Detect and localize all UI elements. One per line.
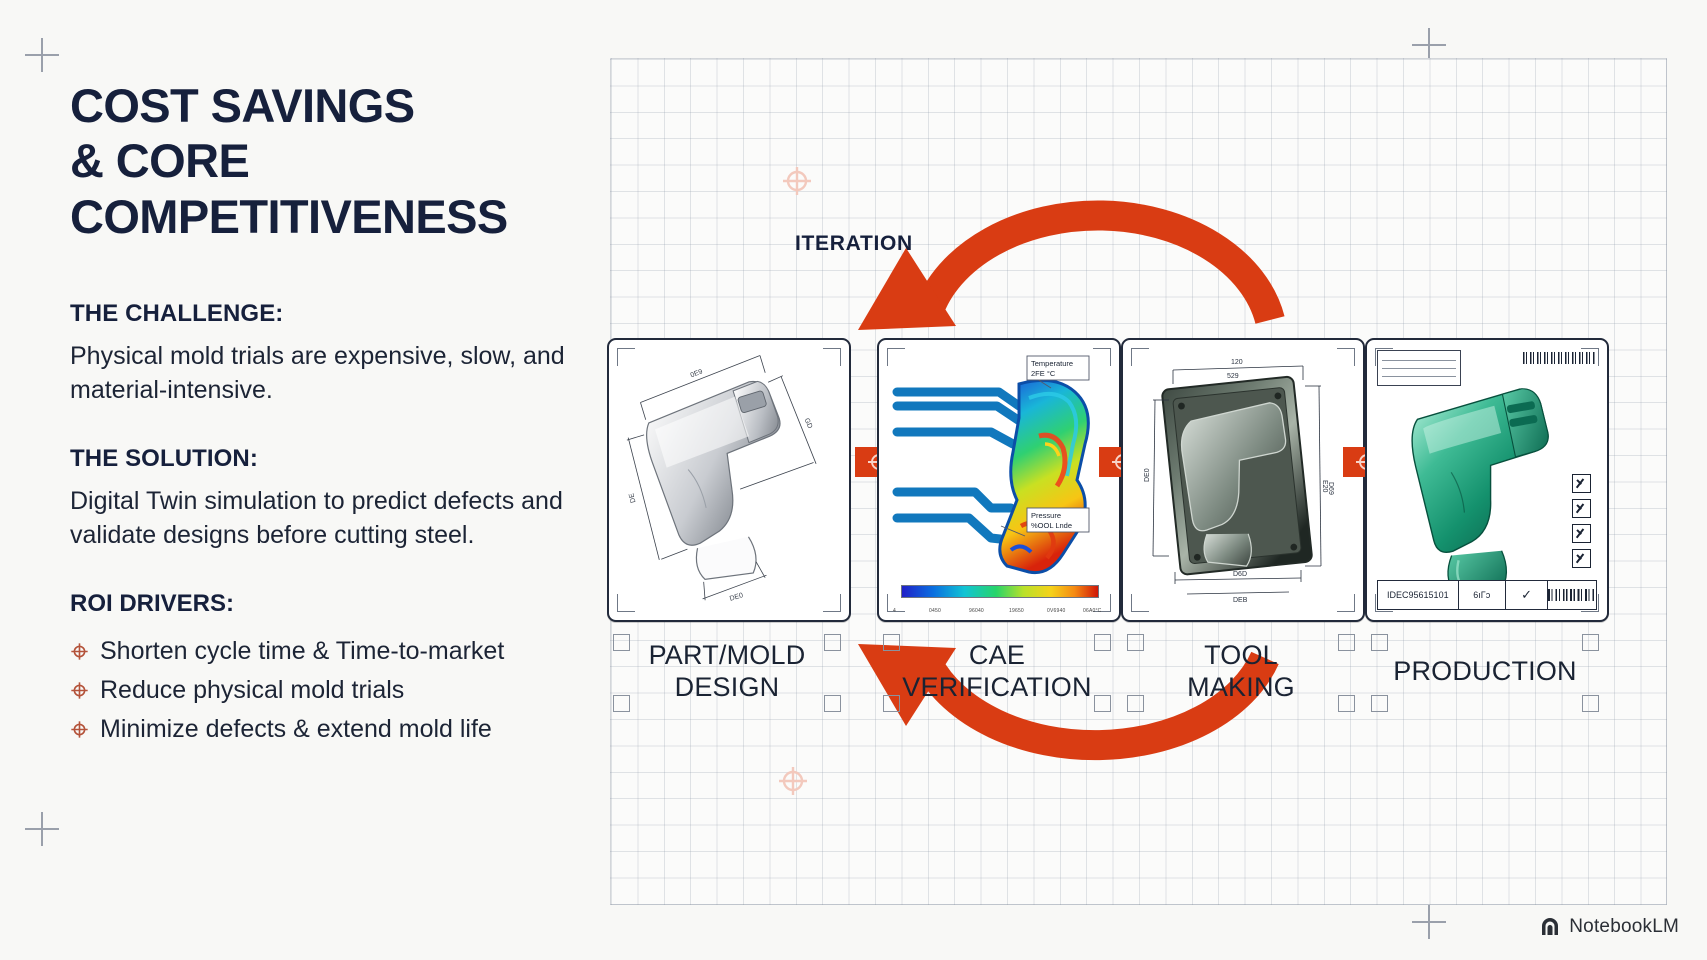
left-content-column: COST SAVINGS & CORE COMPETITIVENESS THE … (70, 78, 615, 749)
crop-mark-bottom-right (1412, 905, 1446, 939)
list-item: Reduce physical mold trials (70, 671, 615, 710)
svg-text:120: 120 (1231, 359, 1243, 366)
cae-pressure-callout-title: Pressure (1031, 511, 1061, 520)
stage-label-line: CAE (969, 640, 1025, 670)
finished-product-illustration (1367, 340, 1607, 620)
title-line-3: COMPETITIVENESS (70, 189, 615, 244)
crop-mark-bottom-left (25, 812, 59, 846)
stage-part-mold-design[interactable]: 0E9 GD DE DE0 PART/MOLD DESIGN (607, 338, 847, 718)
check-icon (1572, 524, 1591, 543)
scale-tick: 0450 (929, 608, 941, 614)
stage-card-image: 0E9 GD DE DE0 (607, 338, 851, 622)
page-title: COST SAVINGS & CORE COMPETITIVENESS (70, 78, 615, 244)
stage-label-line: MAKING (1187, 672, 1295, 702)
stage-label-line: PRODUCTION (1393, 656, 1577, 686)
title-line-1: COST SAVINGS (70, 78, 615, 133)
crosshair-icon (70, 642, 89, 661)
section-solution: THE SOLUTION: Digital Twin simulation to… (70, 445, 615, 552)
scale-tick: 0V6940 (1047, 608, 1065, 614)
roi-item-label: Shorten cycle time & Time-to-market (100, 632, 504, 671)
scale-tick: 96040 (969, 608, 984, 614)
stage-label-box: TOOL MAKING (1121, 626, 1361, 718)
section-challenge-body: Physical mold trials are expensive, slow… (70, 340, 615, 407)
roi-drivers-list: Shorten cycle time & Time-to-market Redu… (70, 632, 615, 749)
cae-temperature-callout-title: Temperature (1031, 359, 1073, 368)
svg-text:D69: D69 (1327, 482, 1334, 495)
titleblock-id: IDEC95615101 (1378, 581, 1459, 609)
stage-production[interactable]: IDEC95615101 6ıΓɔ ✓ PRODUCTION (1365, 338, 1605, 718)
titleblock-rev: 6ıΓɔ (1459, 581, 1506, 609)
stage-cae-verification[interactable]: Temperature 2FE °C Pressure %OOL Lnde 4 … (877, 338, 1117, 718)
roi-drivers-heading: ROI DRIVERS: (70, 590, 615, 618)
svg-text:DE0: DE0 (1144, 468, 1151, 482)
mold-tool-illustration: 120 529 E20 DE0 D69 D6D DEB (1123, 340, 1363, 620)
qa-checklist (1572, 474, 1591, 568)
check-icon (1572, 474, 1591, 493)
crosshair-icon (70, 681, 89, 700)
iteration-label: ITERATION (795, 232, 913, 256)
stage-label-box: PRODUCTION (1365, 626, 1605, 718)
svg-text:E20: E20 (1321, 480, 1328, 493)
list-item: Shorten cycle time & Time-to-market (70, 632, 615, 671)
svg-text:D6D: D6D (1233, 571, 1247, 578)
check-icon (1572, 549, 1591, 568)
svg-text:GD: GD (803, 417, 814, 429)
roi-item-label: Minimize defects & extend mold life (100, 710, 492, 749)
titleblock-barcode (1548, 581, 1596, 609)
process-stage-row: 0E9 GD DE DE0 PART/MOLD DESIGN (607, 338, 1662, 718)
cae-pressure-callout-value: %OOL Lnde (1031, 521, 1072, 530)
section-challenge: THE CHALLENGE: Physical mold trials are … (70, 300, 615, 407)
section-challenge-heading: THE CHALLENGE: (70, 300, 615, 328)
section-solution-heading: THE SOLUTION: (70, 445, 615, 473)
list-item: Minimize defects & extend mold life (70, 710, 615, 749)
title-line-2: & CORE (70, 133, 615, 188)
section-solution-body: Digital Twin simulation to predict defec… (70, 485, 615, 552)
stage-label-line: VERIFICATION (902, 672, 1091, 702)
stage-label-line: PART/MOLD (649, 640, 806, 670)
cad-drawing-illustration: 0E9 GD DE DE0 (609, 340, 849, 620)
crosshair-icon (70, 720, 89, 739)
cae-color-scale-bar (901, 585, 1099, 598)
titleblock-check: ✓ (1506, 581, 1548, 609)
scale-tick: 06A0°C (1083, 608, 1102, 614)
stage-card-image: IDEC95615101 6ıΓɔ ✓ (1365, 338, 1609, 622)
check-icon (1572, 499, 1591, 518)
stage-label-line: TOOL (1204, 640, 1278, 670)
stage-card-image: Temperature 2FE °C Pressure %OOL Lnde 4 … (877, 338, 1121, 622)
cae-simulation-illustration: Temperature 2FE °C Pressure %OOL Lnde (879, 340, 1119, 620)
svg-text:DE0: DE0 (729, 592, 744, 603)
scale-tick: 4 (893, 608, 896, 614)
notebooklm-icon (1539, 917, 1561, 937)
stage-label-box: PART/MOLD DESIGN (607, 626, 847, 718)
stage-label-box: CAE VERIFICATION (877, 626, 1117, 718)
svg-text:DE: DE (628, 492, 637, 503)
stage-card-image: 120 529 E20 DE0 D69 D6D DEB (1121, 338, 1365, 622)
scale-tick: 19650 (1009, 608, 1024, 614)
drawing-title-block: IDEC95615101 6ıΓɔ ✓ (1377, 580, 1597, 610)
svg-text:529: 529 (1227, 373, 1239, 380)
cae-color-scale-ticks: 4 0450 96040 19650 0V6940 06A0°C (893, 602, 1105, 614)
notebooklm-brand-label: NotebookLM (1569, 916, 1679, 938)
crop-mark-top-right (1412, 28, 1446, 62)
cae-temperature-callout-value: 2FE °C (1031, 369, 1056, 378)
svg-text:0E9: 0E9 (690, 368, 704, 379)
crop-mark-top-left (25, 38, 59, 72)
notebooklm-footer: NotebookLM (1539, 916, 1679, 938)
svg-text:DEB: DEB (1233, 597, 1248, 604)
slide-canvas: COST SAVINGS & CORE COMPETITIVENESS THE … (0, 0, 1707, 960)
roi-item-label: Reduce physical mold trials (100, 671, 404, 710)
stage-label-line: DESIGN (675, 672, 780, 702)
stage-tool-making[interactable]: 120 529 E20 DE0 D69 D6D DEB TOOL MAKING (1121, 338, 1361, 718)
